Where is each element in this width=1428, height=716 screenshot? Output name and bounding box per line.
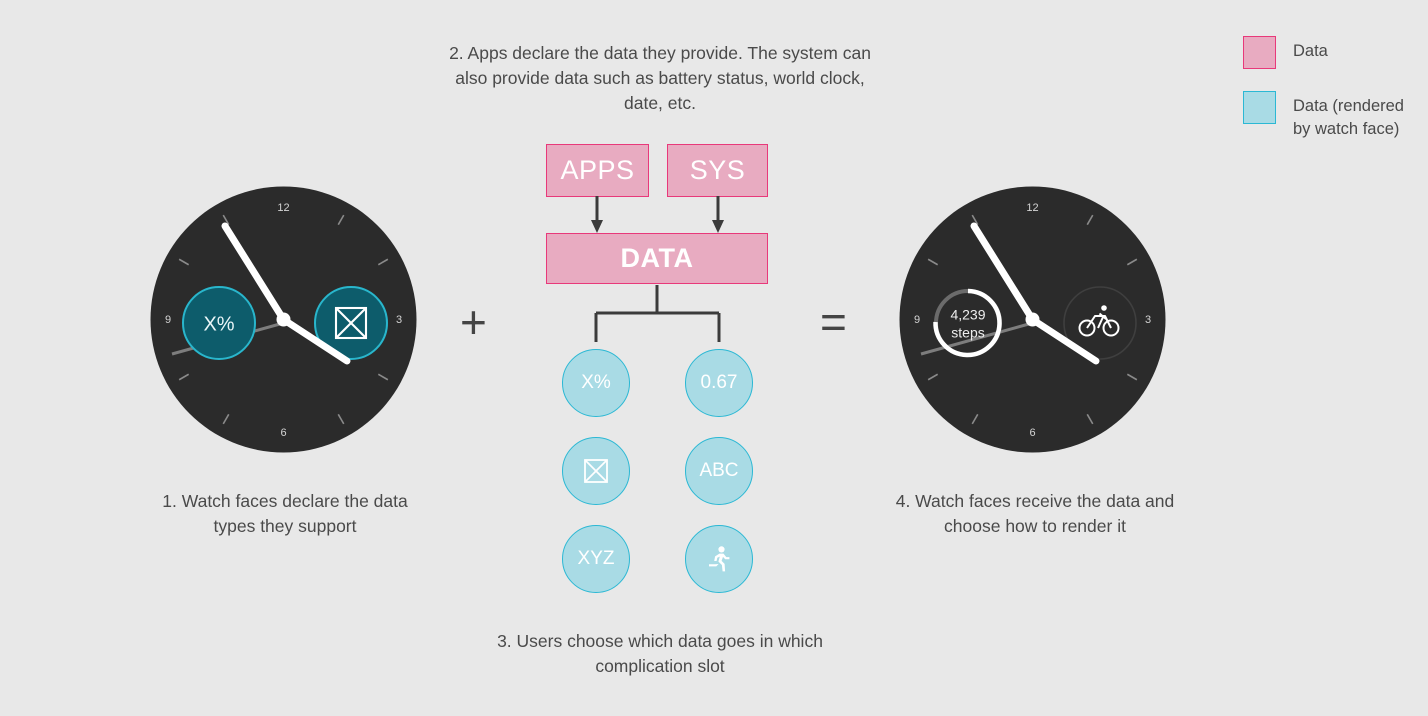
caption-step-2: 2. Apps declare the data they provide. T… (440, 41, 880, 116)
data-type-short-text-label: ABC (699, 460, 738, 482)
steps-value-label: 4,239 (950, 307, 985, 323)
watch-left-numeral-9: 9 (165, 314, 171, 326)
legend-label-data: Data (1293, 36, 1328, 63)
data-type-percent[interactable]: X% (562, 349, 630, 417)
data-type-value[interactable]: 0.67 (685, 349, 753, 417)
watch-face-rendered: 12 3 6 9 4,239 steps (899, 186, 1166, 453)
watch-right-numeral-3: 3 (1145, 314, 1151, 326)
legend: Data Data (rendered by watch face) (1243, 36, 1423, 163)
steps-unit-label: steps (951, 325, 984, 341)
data-type-icon[interactable] (562, 437, 630, 505)
watch-face-declared: 12 3 6 9 X% (150, 186, 417, 453)
legend-label-data-rendered: Data (rendered by watch face) (1293, 91, 1423, 141)
data-type-short-text[interactable]: ABC (685, 437, 753, 505)
watch-left-numeral-3: 3 (396, 314, 402, 326)
watch-left-numeral-6: 6 (280, 427, 286, 439)
diagram-canvas: 2. Apps declare the data they provide. T… (0, 0, 1428, 716)
caption-step-1: 1. Watch faces declare the data types th… (140, 489, 430, 539)
watch-right-numeral-12: 12 (1026, 202, 1038, 214)
watch-left-center-pin (277, 313, 291, 327)
data-type-long-text-label: XYZ (578, 548, 615, 570)
legend-item-data: Data (1243, 36, 1423, 69)
legend-item-data-rendered: Data (rendered by watch face) (1243, 91, 1423, 141)
plus-operator: + (460, 299, 487, 345)
flow-connectors (520, 190, 800, 370)
legend-swatch-data (1243, 36, 1276, 69)
data-type-activity[interactable] (685, 525, 753, 593)
watch-right-numeral-6: 6 (1029, 427, 1035, 439)
legend-swatch-data-rendered (1243, 91, 1276, 124)
watch-left-complication-percent-label: X% (203, 313, 234, 335)
watch-right-numeral-9: 9 (914, 314, 920, 326)
caption-step-4: 4. Watch faces receive the data and choo… (885, 489, 1185, 539)
data-type-percent-label: X% (581, 372, 611, 394)
data-type-long-text[interactable]: XYZ (562, 525, 630, 593)
watch-right-center-pin (1026, 313, 1040, 327)
watch-left-numeral-12: 12 (277, 202, 289, 214)
caption-step-3: 3. Users choose which data goes in which… (490, 629, 830, 679)
data-type-value-label: 0.67 (701, 372, 738, 394)
watch-left-complication-percent[interactable]: X% (183, 287, 255, 359)
running-person-icon (706, 545, 732, 573)
crossed-box-icon (583, 458, 609, 484)
equals-operator: = (820, 299, 847, 345)
